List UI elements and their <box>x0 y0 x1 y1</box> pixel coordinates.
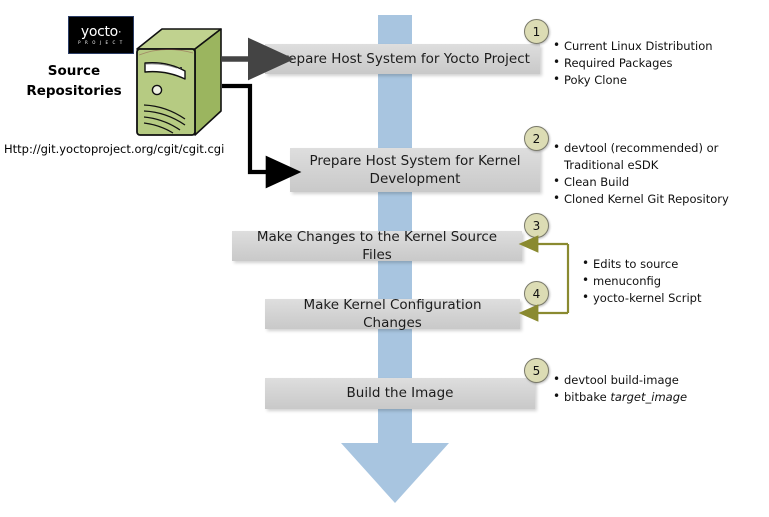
step-3-number: 3 <box>533 219 541 233</box>
list-item: devtool (recommended) or Traditional eSD… <box>564 140 729 174</box>
list-item: Clean Build <box>564 174 729 191</box>
step-number-badge-1: 1 <box>524 19 549 44</box>
process-box-prepare-host-kernel[interactable]: Prepare Host System for Kernel Developme… <box>290 148 540 192</box>
logo-subtitle: P R O J E C T <box>78 41 124 45</box>
step-number-badge-2: 2 <box>524 126 549 151</box>
steps-3-4-note-list: Edits to source menuconfig yocto-kernel … <box>580 256 702 307</box>
source-repository-url: Http://git.yoctoproject.org/cgit/cgit.cg… <box>4 142 224 156</box>
process-box-make-kernel-config-changes[interactable]: Make Kernel Configuration Changes <box>265 299 520 329</box>
process-box-prepare-host-yocto[interactable]: Prepare Host System for Yocto Project <box>265 44 540 74</box>
process-box-build-the-image[interactable]: Build the Image <box>265 378 535 409</box>
bitbake-command: bitbake <box>564 390 610 404</box>
step-2-notes: devtool (recommended) or Traditional eSD… <box>551 140 729 208</box>
box2-label-line2: Development <box>370 171 461 187</box>
bitbake-target-argument: target_image <box>610 390 687 404</box>
step-number-badge-5: 5 <box>524 358 549 383</box>
logo-dot: · <box>118 26 121 39</box>
step-1-notes: Current Linux Distribution Required Pack… <box>551 38 713 89</box>
list-item: Cloned Kernel Git Repository <box>564 191 729 208</box>
arrow-server-to-box2 <box>222 86 272 172</box>
list-item: yocto-kernel Script <box>593 290 702 307</box>
server-tower-icon <box>133 27 223 141</box>
step-2-number: 2 <box>533 132 541 146</box>
box1-label: Prepare Host System for Yocto Project <box>275 50 530 68</box>
logo-word: yocto <box>81 24 118 40</box>
step-number-badge-4: 4 <box>524 281 549 306</box>
list-item: bitbake target_image <box>564 389 687 406</box>
step-5-notes: devtool build-image bitbake target_image <box>551 372 687 406</box>
list-item: menuconfig <box>593 273 702 290</box>
source-label-line2: Repositories <box>12 82 136 102</box>
yocto-project-logo: yocto· P R O J E C T <box>68 16 134 54</box>
box4-label: Make Kernel Configuration Changes <box>273 296 512 332</box>
steps-3-4-shared-notes: Edits to source menuconfig yocto-kernel … <box>580 256 702 307</box>
logo-wordmark: yocto· <box>81 25 121 39</box>
diagram-canvas: yocto· P R O J E C T Source Repositories… <box>0 0 769 517</box>
step-5-number: 5 <box>533 364 541 378</box>
list-item: Poky Clone <box>564 72 713 89</box>
source-label-line1: Source <box>12 62 136 82</box>
list-item-continuation: Traditional eSDK <box>564 157 729 174</box>
box2-label-line1: Prepare Host System for Kernel <box>309 153 520 169</box>
step-2-note-list: devtool (recommended) or Traditional eSD… <box>551 140 729 208</box>
list-item: Edits to source <box>593 256 702 273</box>
list-item: Required Packages <box>564 55 713 72</box>
list-item-text: devtool (recommended) or <box>564 141 718 155</box>
box2-label: Prepare Host System for Kernel Developme… <box>309 152 520 188</box>
process-box-make-kernel-source-changes[interactable]: Make Changes to the Kernel Source Files <box>232 231 522 261</box>
flow-arrowhead-icon <box>341 443 449 503</box>
source-repositories-label: Source Repositories <box>12 62 136 101</box>
list-item: devtool build-image <box>564 372 687 389</box>
list-item: Current Linux Distribution <box>564 38 713 55</box>
step-5-note-list: devtool build-image bitbake target_image <box>551 372 687 406</box>
step-4-number: 4 <box>533 287 541 301</box>
step-1-number: 1 <box>533 25 541 39</box>
step-1-note-list: Current Linux Distribution Required Pack… <box>551 38 713 89</box>
box3-label: Make Changes to the Kernel Source Files <box>240 228 514 264</box>
box5-label: Build the Image <box>347 384 454 402</box>
step-number-badge-3: 3 <box>524 213 549 238</box>
